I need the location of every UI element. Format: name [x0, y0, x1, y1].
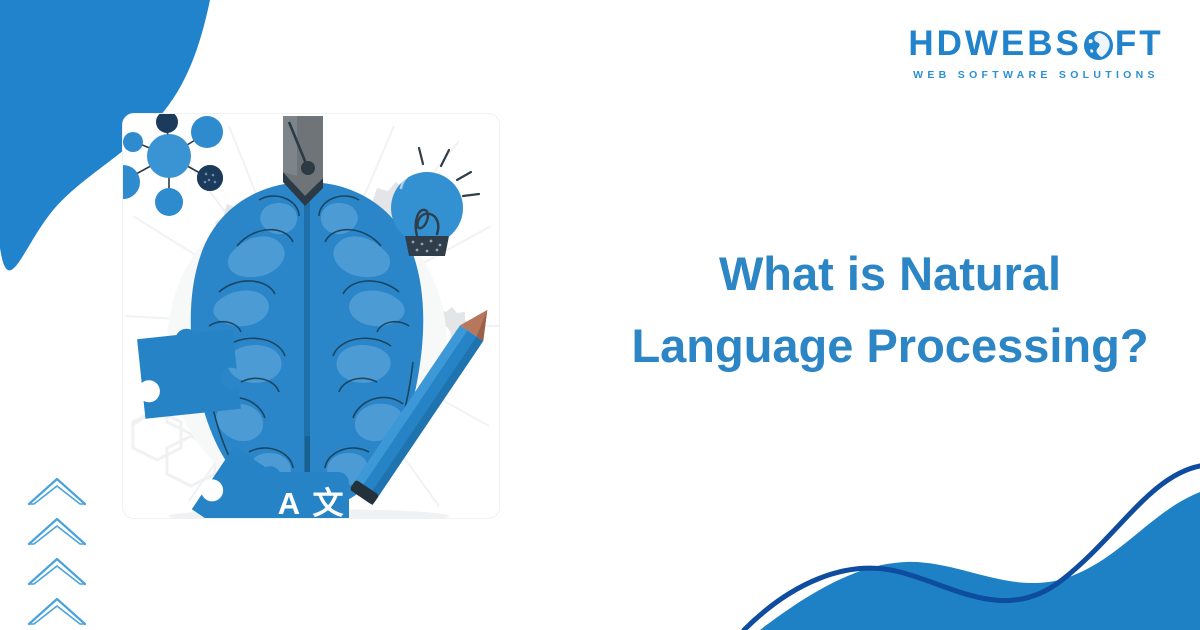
chevron-up-icon: [26, 514, 88, 548]
svg-text:文: 文: [313, 486, 344, 522]
logo-text-right: FT: [1115, 24, 1164, 64]
logo-text-left: HDWEBS: [908, 24, 1082, 64]
svg-text:A: A: [278, 486, 300, 521]
chevron-up-icon: [26, 554, 88, 588]
blue-wave-shape: [760, 492, 1200, 630]
site-logo[interactable]: HDWEBS FT WEB SOFTWARE SOLUTIONS: [896, 24, 1176, 92]
chevron-up-icon: [26, 474, 88, 508]
globe-icon: [1083, 30, 1114, 61]
blog-hero-banner: HDWEBS FT WEB SOFTWARE SOLUTIONS What is…: [0, 0, 1200, 630]
page-title: What is Natural Language Processing?: [600, 238, 1180, 382]
chevron-up-icon: [26, 594, 88, 628]
navy-curve-line: [744, 466, 1200, 630]
molecule-network-icon: [109, 111, 223, 216]
logo-tagline: WEB SOFTWARE SOLUTIONS: [896, 69, 1176, 81]
headline-line-2: Language Processing?: [600, 310, 1180, 382]
chevron-stack: [26, 474, 96, 624]
nlp-illustration: A 文: [109, 96, 513, 536]
illustration-card: A 文: [122, 113, 500, 519]
headline-line-1: What is Natural: [600, 238, 1180, 310]
logo-wordmark: HDWEBS FT: [896, 24, 1176, 64]
translate-badge-icon: A 文: [269, 472, 349, 536]
